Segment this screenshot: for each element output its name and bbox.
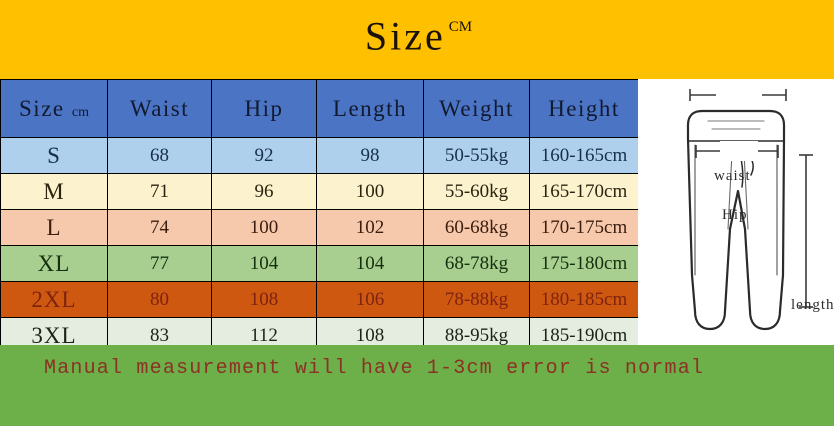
- column-header-height: Height: [530, 80, 639, 138]
- table-row: M 71 96 100 55-60kg 165-170cm: [1, 174, 639, 210]
- table-row: 2XL 80 108 106 78-88kg 180-185cm: [1, 282, 639, 318]
- cell-hip: 92: [212, 138, 317, 174]
- top-banner: SizeCM: [0, 0, 834, 79]
- cell-height: 160-165cm: [530, 138, 639, 174]
- cell-height: 165-170cm: [530, 174, 639, 210]
- cell-hip: 100: [212, 210, 317, 246]
- cell-length: 98: [317, 138, 424, 174]
- length-label: length: [791, 297, 834, 314]
- cell-height: 180-185cm: [530, 282, 639, 318]
- cell-height: 175-180cm: [530, 246, 639, 282]
- cell-length: 100: [317, 174, 424, 210]
- cell-height: 170-175cm: [530, 210, 639, 246]
- cell-weight: 55-60kg: [424, 174, 530, 210]
- cell-waist: 68: [108, 138, 212, 174]
- pants-diagram: waist Hip length: [638, 79, 834, 345]
- table-row: L 74 100 102 60-68kg 170-175cm: [1, 210, 639, 246]
- header-row: Size cm Waist Hip Length Weight Height: [1, 80, 639, 138]
- measurement-note: Manual measurement will have 1-3cm error…: [44, 355, 804, 383]
- cell-waist: 80: [108, 282, 212, 318]
- table-header: Size cm Waist Hip Length Weight Height: [1, 80, 639, 138]
- column-header-length: Length: [317, 80, 424, 138]
- cell-length: 106: [317, 282, 424, 318]
- cell-waist: 71: [108, 174, 212, 210]
- column-header-size: Size cm: [1, 80, 108, 138]
- title-text: Size: [365, 13, 446, 58]
- table-body: S 68 92 98 50-55kg 160-165cm M 71 96 100…: [1, 138, 639, 354]
- cell-length: 102: [317, 210, 424, 246]
- cell-length: 104: [317, 246, 424, 282]
- table-row: XL 77 104 104 68-78kg 175-180cm: [1, 246, 639, 282]
- cell-size: XL: [1, 246, 108, 282]
- cell-hip: 108: [212, 282, 317, 318]
- cell-weight: 68-78kg: [424, 246, 530, 282]
- table-row: S 68 92 98 50-55kg 160-165cm: [1, 138, 639, 174]
- cell-weight: 60-68kg: [424, 210, 530, 246]
- size-chart-page: SizeCM Size cm Waist Hip Length Weight H…: [0, 0, 834, 426]
- column-header-waist: Waist: [108, 80, 212, 138]
- length-measure-arrow: [799, 155, 813, 307]
- hip-label: Hip: [722, 207, 748, 224]
- column-header-size-sub: cm: [72, 105, 89, 120]
- cell-weight: 78-88kg: [424, 282, 530, 318]
- cell-size: S: [1, 138, 108, 174]
- column-header-size-label: Size: [19, 96, 65, 121]
- cell-hip: 96: [212, 174, 317, 210]
- page-title: SizeCM: [0, 6, 834, 61]
- cell-size: L: [1, 210, 108, 246]
- column-header-hip: Hip: [212, 80, 317, 138]
- size-table: Size cm Waist Hip Length Weight Height S…: [0, 79, 639, 354]
- cell-weight: 50-55kg: [424, 138, 530, 174]
- cell-size: M: [1, 174, 108, 210]
- cell-hip: 104: [212, 246, 317, 282]
- title-unit: CM: [449, 19, 472, 35]
- size-table-container: Size cm Waist Hip Length Weight Height S…: [0, 79, 638, 345]
- cell-waist: 74: [108, 210, 212, 246]
- waist-label: waist: [714, 168, 751, 185]
- column-header-weight: Weight: [424, 80, 530, 138]
- cell-size: 2XL: [1, 282, 108, 318]
- cell-waist: 77: [108, 246, 212, 282]
